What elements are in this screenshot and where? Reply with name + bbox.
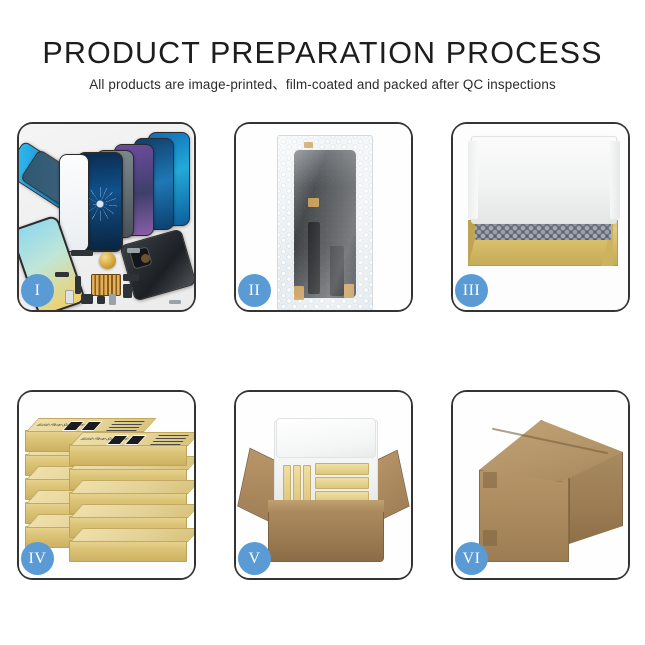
inner-yellow-box-5 [315, 477, 369, 489]
page-subtitle: All products are image-printed、film-coat… [0, 73, 645, 93]
tape-bottom-left [294, 286, 304, 300]
part-sim-tray [65, 290, 74, 304]
part-antenna-strip [55, 272, 69, 277]
step-badge-1: I [21, 274, 54, 307]
step-badge-5: V [238, 542, 271, 575]
stacked-boxes-group: Mobile Phone Spare Parts Mobile Phone [25, 410, 193, 564]
step-panel-product-assortment[interactable]: I [17, 122, 196, 312]
step-panel-carton-sealed[interactable]: VI [451, 390, 630, 580]
tape-top [304, 142, 313, 148]
step-badge-4: IV [21, 542, 54, 575]
box-label-spec-lines-front [150, 435, 189, 445]
step-panel-bubble-wrapping[interactable]: II [234, 122, 413, 312]
product-preparation-process-page: PRODUCT PREPARATION PROCESS All products… [0, 0, 645, 645]
box-label-product-name-back: Mobile Phone Spare Parts [34, 423, 88, 427]
foam-box-lid-open [276, 418, 376, 458]
part-small-chip [97, 296, 105, 304]
part-connector-strip [71, 250, 93, 256]
part-tool-tweezer [169, 300, 181, 304]
lcd-display-part [294, 150, 356, 298]
process-steps-grid: I II [17, 122, 628, 582]
part-camera-module [123, 274, 139, 281]
step-panel-boxes-stacked[interactable]: Mobile Phone Spare Parts Mobile Phone [17, 390, 196, 580]
carton-flap-tab-upper [483, 472, 497, 488]
step-panel-carton-loading[interactable]: V [234, 390, 413, 580]
flex-cable-tail-secondary [330, 246, 344, 296]
inner-yellow-box-2 [293, 465, 301, 505]
tape-middle [308, 198, 319, 207]
white-foam-lid [471, 136, 617, 224]
inner-yellow-box-3 [303, 465, 311, 505]
sealed-carton [461, 410, 625, 562]
inner-yellow-box-1 [283, 465, 291, 505]
inner-yellow-box-4 [315, 463, 369, 475]
tape-bottom-right [344, 284, 354, 298]
box-label-spec-lines-back [106, 421, 145, 431]
part-metal-bracket [127, 248, 140, 253]
box-top-face-front: Mobile Phone Spare Parts [70, 432, 194, 446]
part-flex-ring [141, 254, 150, 263]
step-panel-inner-box-packing[interactable]: III [451, 122, 630, 312]
stacked-box-front-4 [69, 540, 187, 562]
step-badge-6: VI [455, 542, 488, 575]
box-label-product-name-front: Mobile Phone Spare Parts [78, 437, 132, 441]
step-badge-3: III [455, 274, 488, 307]
stacked-box-printed-front: Mobile Phone Spare Parts [69, 444, 187, 466]
speaker-component-round [99, 252, 116, 269]
carton-front-fold [268, 500, 384, 512]
flex-cable-tail [308, 222, 320, 294]
part-screw-set [109, 294, 116, 305]
page-title: PRODUCT PREPARATION PROCESS [0, 36, 645, 71]
ic-chip-grid [91, 274, 121, 296]
box-top-face-back: Mobile Phone Spare Parts [26, 418, 157, 432]
step-badge-2: II [238, 274, 271, 307]
bubble-wrap-bag [277, 135, 373, 310]
part-button-set [81, 294, 93, 304]
part-flex-cable-left [75, 276, 81, 294]
part-vibrator [123, 284, 132, 298]
carton-flap-tab-lower [483, 530, 497, 546]
